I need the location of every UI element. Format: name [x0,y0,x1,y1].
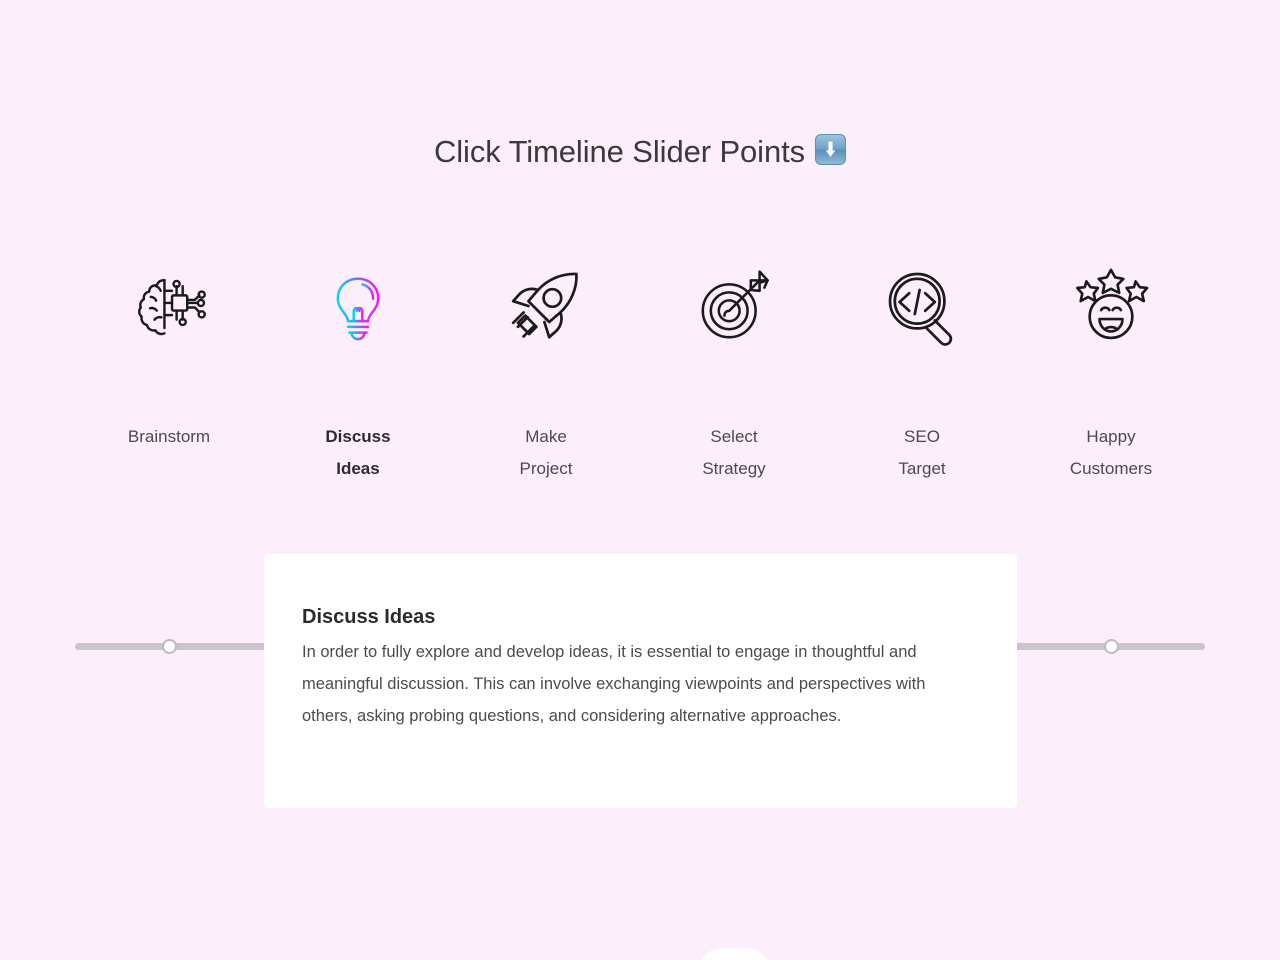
timeline-step-select-strategy[interactable] [644,258,824,354]
magnifier-code-icon [832,258,1012,354]
step-detail-card: Discuss Ideas In order to fully explore … [264,554,1017,808]
timeline-label-line2: Customers [1021,453,1201,485]
bottom-overflow-peek [698,948,770,960]
card-body: In order to fully explore and develop id… [302,636,957,732]
timeline-label-line1: Discuss [325,427,390,446]
timeline-label-line1: Happy [1086,427,1135,446]
timeline-label-line1: Make [525,427,567,446]
target-dart-icon [644,258,824,354]
timeline-step-make-project[interactable] [456,258,636,354]
timeline-label-line1: Select [710,427,757,446]
ai-brain-circuit-icon [79,258,259,354]
timeline-label-line1: SEO [904,427,940,446]
timeline-step-discuss-ideas[interactable] [268,258,448,354]
card-title: Discuss Ideas [302,606,435,629]
timeline-step-brainstorm[interactable] [79,258,259,354]
timeline-label-happy-customers[interactable]: Happy Customers [1021,421,1201,485]
timeline-slider[interactable]: Brainstorm [0,258,1280,498]
timeline-label-discuss-ideas[interactable]: Discuss Ideas [268,421,448,485]
timeline-dot-happy-customers[interactable] [1104,639,1119,654]
timeline-dot-brainstorm[interactable] [162,639,177,654]
timeline-step-seo-target[interactable] [832,258,1012,354]
timeline-step-happy-customers[interactable] [1021,258,1201,354]
timeline-label-brainstorm[interactable]: Brainstorm [79,421,259,453]
timeline-label-line1: Brainstorm [128,427,210,446]
lightbulb-icon [268,258,448,354]
down-arrow-emoji-icon [815,134,846,165]
timeline-label-line2: Ideas [268,453,448,485]
rocket-icon [456,258,636,354]
timeline-label-line2: Target [832,453,1012,485]
timeline-label-select-strategy[interactable]: Select Strategy [644,421,824,485]
timeline-label-seo-target[interactable]: SEO Target [832,421,1012,485]
page-title-text: Click Timeline Slider Points [434,134,805,169]
timeline-label-make-project[interactable]: Make Project [456,421,636,485]
page-title: Click Timeline Slider Points [0,132,1280,170]
timeline-label-line2: Project [456,453,636,485]
timeline-label-line2: Strategy [644,453,824,485]
happy-face-stars-icon [1021,258,1201,354]
